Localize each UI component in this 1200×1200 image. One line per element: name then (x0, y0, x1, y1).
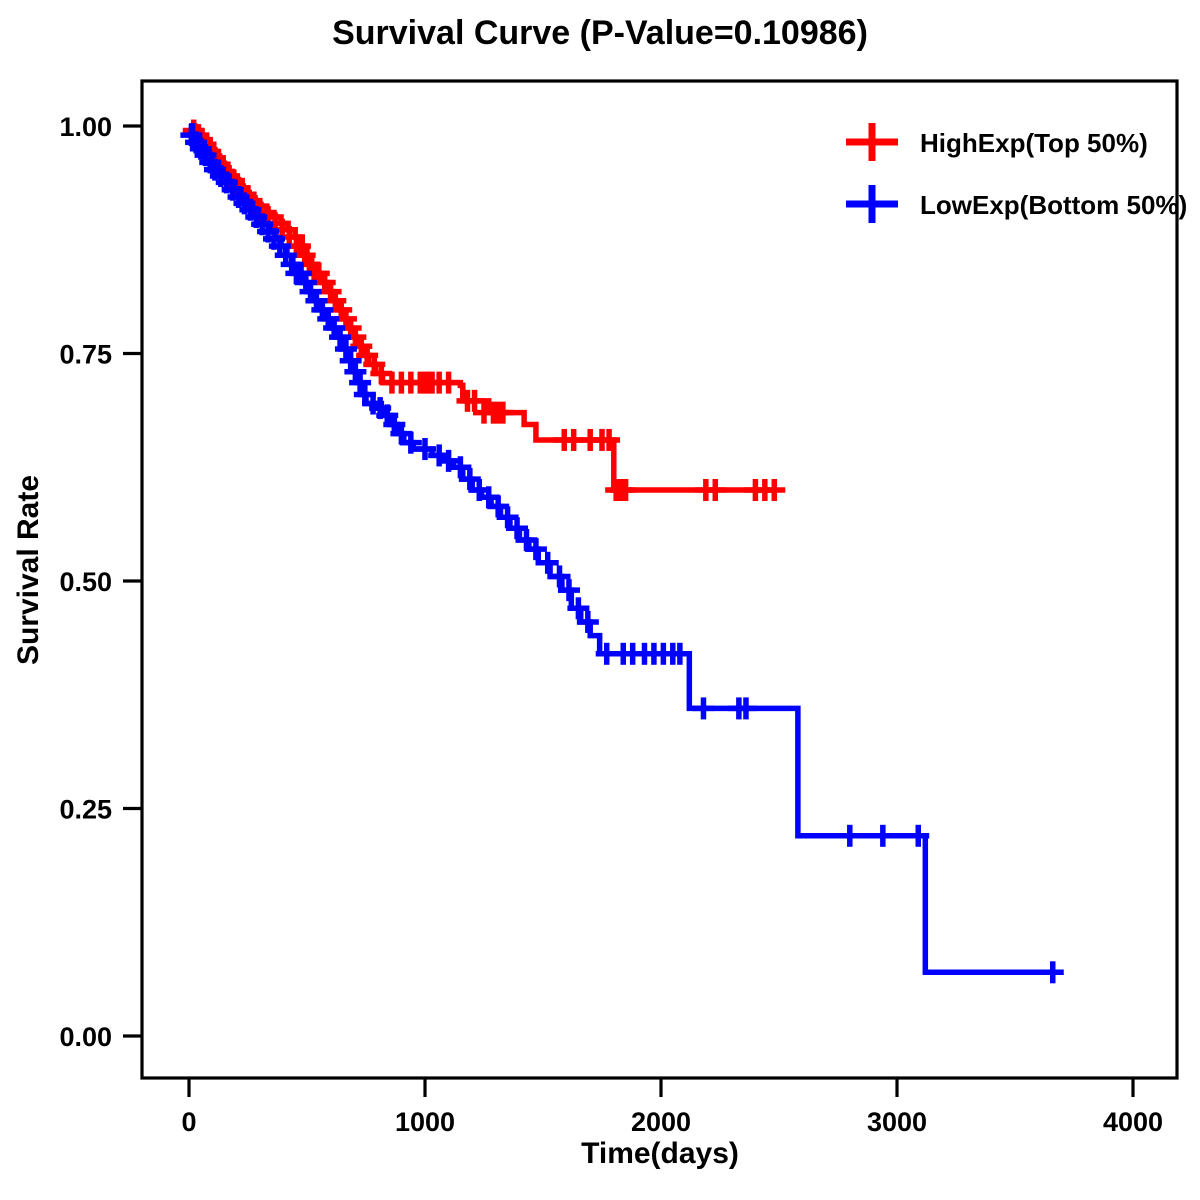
x-tick-label: 0 (181, 1107, 196, 1137)
y-axis-title: Survival Rate (12, 475, 45, 665)
y-tick-label: 0.50 (59, 567, 112, 597)
y-tick-label: 1.00 (59, 112, 112, 142)
series-layer (180, 120, 1063, 984)
x-axis-tick-labels: 01000200030004000 (181, 1107, 1163, 1137)
legend-label: HighExp(Top 50%) (920, 128, 1148, 158)
y-tick-label: 0.75 (59, 340, 112, 370)
series-highexp (183, 120, 786, 501)
y-tick-label: 0.25 (59, 795, 112, 825)
legend[interactable]: HighExp(Top 50%)LowExp(Bottom 50%) (846, 123, 1187, 223)
y-axis-ticks (123, 126, 142, 1036)
survival-curve-plot: 01000200030004000 0.000.250.500.751.00 T… (0, 0, 1200, 1200)
x-tick-label: 1000 (395, 1107, 455, 1137)
chart-page: Survival Curve (P-Value=0.10986) 0100020… (0, 0, 1200, 1200)
x-tick-label: 2000 (631, 1107, 691, 1137)
legend-label: LowExp(Bottom 50%) (920, 190, 1187, 220)
x-tick-label: 4000 (1103, 1107, 1163, 1137)
x-axis-ticks (189, 1078, 1133, 1097)
x-tick-label: 3000 (867, 1107, 927, 1137)
legend-item-highexp[interactable]: HighExp(Top 50%) (846, 123, 1148, 161)
y-axis-tick-labels: 0.000.250.500.751.00 (59, 112, 112, 1052)
y-tick-label: 0.00 (59, 1022, 112, 1052)
step-line (189, 126, 774, 490)
x-axis-title: Time(days) (581, 1137, 739, 1170)
step-line (189, 126, 1057, 972)
legend-item-lowexp[interactable]: LowExp(Bottom 50%) (846, 185, 1187, 223)
